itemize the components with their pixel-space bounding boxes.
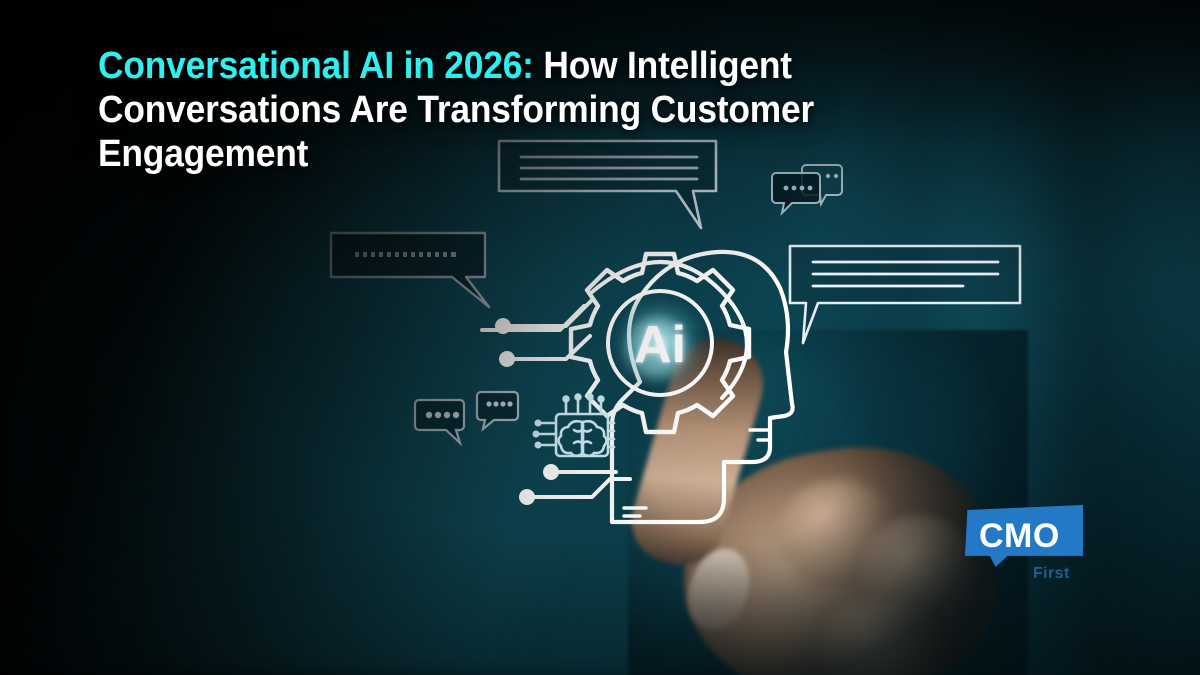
page-title-highlight: Conversational AI in 2026: [98,45,534,87]
cmo-first-logo[interactable]: CMO First [965,505,1100,600]
logo-secondary-text: First [1033,565,1070,583]
banner-image: Ai Ai [0,0,1200,675]
logo-primary-text: CMO [979,517,1060,556]
page-title: Conversational AI in 2026: How Intellige… [98,44,926,176]
